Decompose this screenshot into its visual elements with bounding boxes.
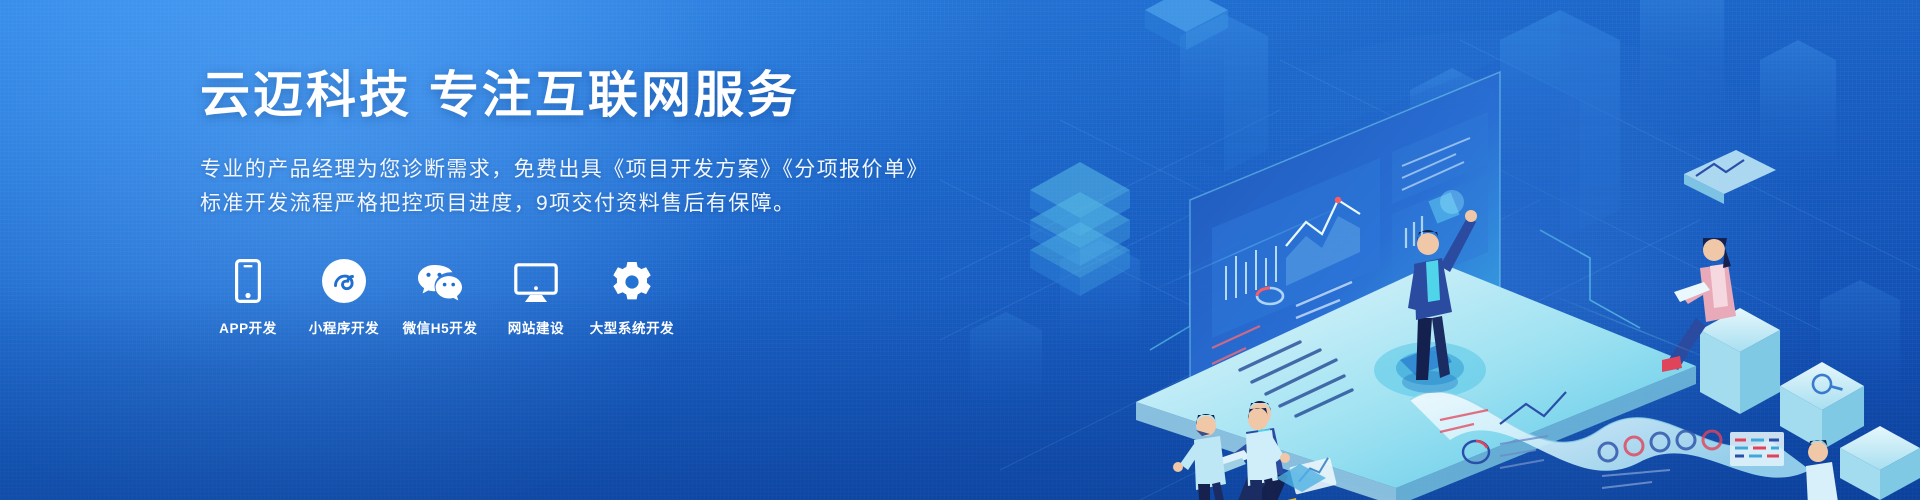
background-glow-right: [1120, 30, 1880, 500]
banner-subtitle-line-2: 标准开发流程严格把控项目进度，9项交付资料售后有保障。: [200, 187, 960, 221]
gear-icon: [611, 257, 653, 303]
mobile-phone-icon: [235, 257, 261, 303]
service-list: APP开发 小程序开发: [200, 257, 960, 337]
service-item-mini-program[interactable]: 小程序开发: [296, 257, 392, 337]
service-item-website[interactable]: 网站建设: [488, 257, 584, 337]
page-title: 云迈科技 专注互联网服务: [200, 66, 960, 125]
monitor-icon: [514, 257, 558, 303]
hero-banner: 云迈科技 专注互联网服务 专业的产品经理为您诊断需求，免费出具《项目开发方案》《…: [0, 0, 1920, 500]
service-item-wechat-h5[interactable]: 微信H5开发: [392, 257, 488, 337]
service-label: 小程序开发: [309, 317, 380, 337]
wechat-icon: [417, 257, 463, 303]
service-item-large-system[interactable]: 大型系统开发: [584, 257, 680, 337]
banner-subtitle-line-1: 专业的产品经理为您诊断需求，免费出具《项目开发方案》《分项报价单》: [200, 153, 960, 187]
service-label: 网站建设: [508, 317, 564, 337]
service-label: APP开发: [219, 317, 277, 337]
mini-program-icon: [322, 257, 366, 303]
banner-content: 云迈科技 专注互联网服务 专业的产品经理为您诊断需求，免费出具《项目开发方案》《…: [200, 66, 960, 337]
isometric-tech-illustration: [940, 0, 1920, 500]
service-label: 微信H5开发: [403, 317, 478, 337]
service-item-app[interactable]: APP开发: [200, 257, 296, 337]
service-label: 大型系统开发: [590, 317, 675, 337]
